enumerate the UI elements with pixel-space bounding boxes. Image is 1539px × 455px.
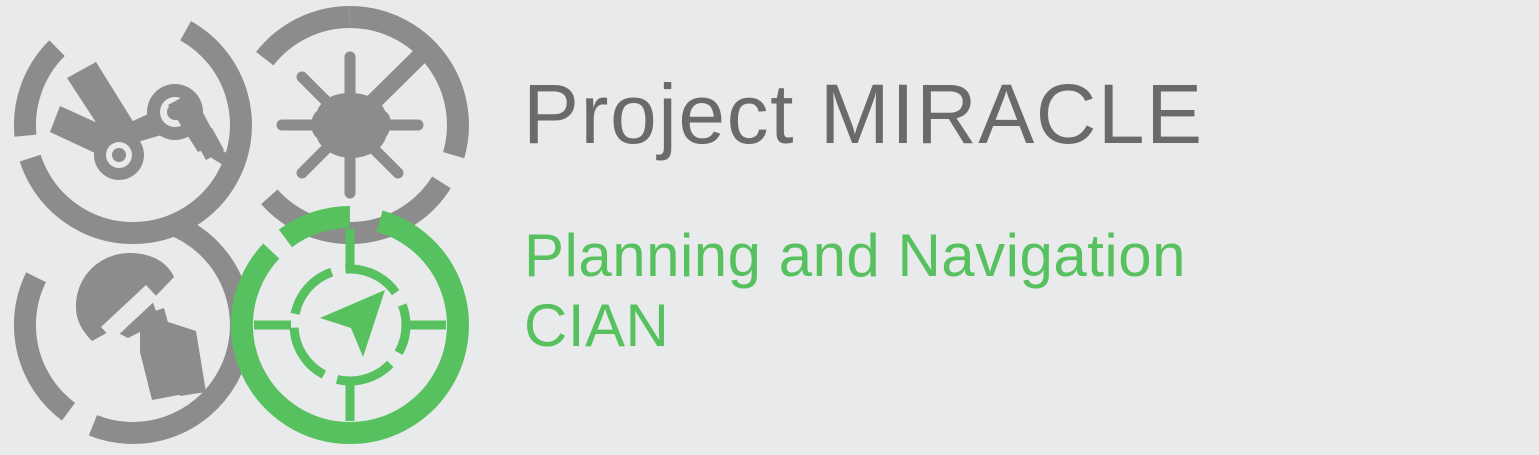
sunburst-ray-sw bbox=[302, 146, 329, 173]
sunburst-ray-nw bbox=[302, 77, 329, 104]
ring-bottom-right-navigation bbox=[242, 217, 458, 433]
ring-top-right-sunburst bbox=[242, 17, 458, 233]
subtitle-line-one: Planning and Navigation bbox=[524, 226, 1186, 286]
logo-svg bbox=[0, 0, 500, 450]
page-title: Project MIRACLE bbox=[523, 72, 1204, 156]
project-logo bbox=[0, 0, 500, 450]
subtitle-line-two: CIAN bbox=[524, 296, 669, 356]
ring-top-left-robot-arm bbox=[25, 17, 241, 233]
project-banner: Project MIRACLE Planning and Navigation … bbox=[0, 0, 1539, 450]
robot-arm-joint-lower-pin bbox=[112, 148, 126, 162]
ring-bottom-left-worker bbox=[25, 217, 241, 433]
banner-text-block: Project MIRACLE Planning and Navigation … bbox=[523, 0, 1533, 450]
navigation-arrow-icon bbox=[320, 290, 385, 357]
